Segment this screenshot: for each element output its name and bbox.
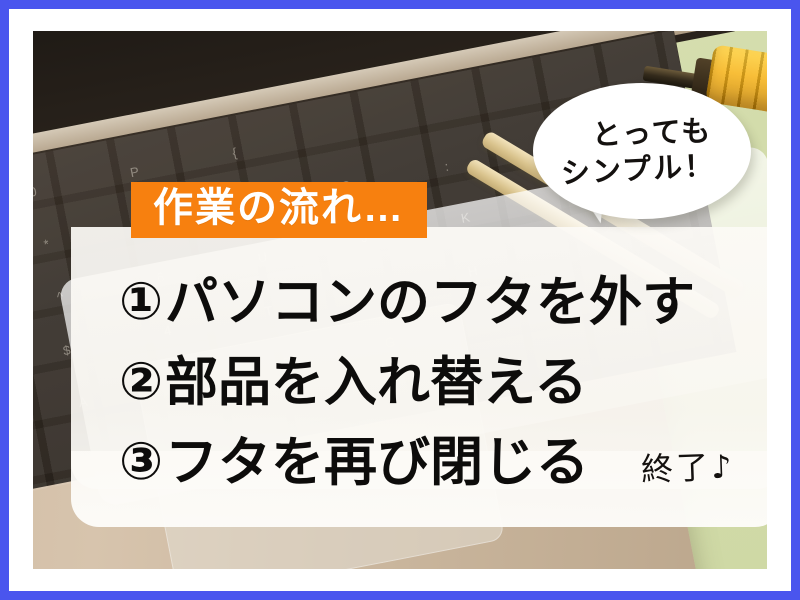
step-item-3: ③ フタを再び閉じる xyxy=(119,425,695,499)
speech-bubble: とっても シンプル！ xyxy=(533,83,751,219)
step-number-1: ① xyxy=(119,276,163,328)
white-mat-border: ( 9 0 P { & 7 * 8 I O : % 5 ^ 6 U J K # … xyxy=(9,9,791,591)
speech-bubble-line-1: とっても xyxy=(591,113,712,151)
speech-bubble-line-2: シンプル！ xyxy=(560,148,716,190)
headline-banner: 作業の流れ… xyxy=(131,182,427,238)
step-number-2: ② xyxy=(119,356,163,408)
step-label-2: 部品を入れ替える xyxy=(165,356,587,409)
speech-bubble-text: とっても シンプル！ xyxy=(533,83,751,219)
step-number-3: ③ xyxy=(119,436,163,488)
background-photo: ( 9 0 P { & 7 * 8 I O : % 5 ^ 6 U J K # … xyxy=(33,31,767,569)
step-item-2: ② 部品を入れ替える xyxy=(119,345,695,419)
step-item-1: ① パソコンのフタを外す xyxy=(119,265,695,339)
end-note-text: 終了♪ xyxy=(640,441,735,490)
headline-banner-text: 作業の流れ… xyxy=(153,187,405,229)
step-label-3: フタを再び閉じる xyxy=(165,436,589,489)
poster-root: ( 9 0 P { & 7 * 8 I O : % 5 ^ 6 U J K # … xyxy=(0,0,800,600)
steps-list: ① パソコンのフタを外す ② 部品を入れ替える ③ フタを再び閉じる xyxy=(119,265,695,499)
step-label-1: パソコンのフタを外す xyxy=(165,276,695,329)
